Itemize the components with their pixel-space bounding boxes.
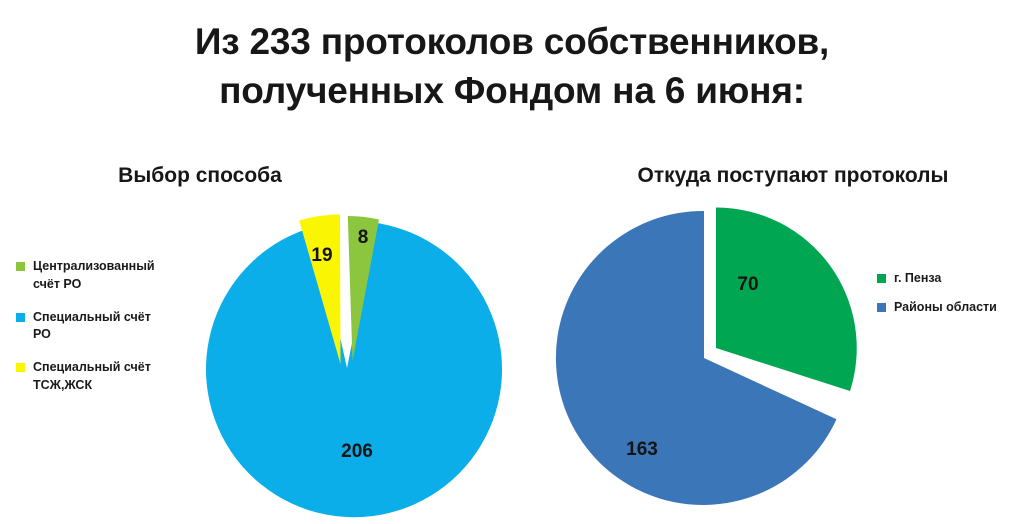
pie-chart-left: 206 19 8 [190, 208, 510, 518]
pie-left-value-yellow: 19 [311, 245, 332, 266]
legend-label-centralized-ro: Централизованный счёт РО [33, 258, 155, 294]
chart-left-legend: Централизованный счёт РО Специальный счё… [16, 258, 184, 410]
chart-left-title: Выбор способа [0, 164, 456, 188]
legend-item-regions[interactable]: Районы области [877, 299, 1024, 317]
page-title-line-2: полученных Фондом на 6 июня: [0, 67, 1024, 116]
legend-swatch-green-icon [16, 262, 25, 271]
legend-item-penza-city[interactable]: г. Пенза [877, 270, 1024, 288]
legend-label-special-tszh: Специальный счёт ТСЖ,ЖСК [33, 359, 151, 395]
legend-item-special-tszh[interactable]: Специальный счёт ТСЖ,ЖСК [16, 359, 184, 395]
legend-swatch-cyan-icon [16, 313, 25, 322]
legend-swatch-emerald-icon [877, 274, 886, 283]
page-title: Из 233 протоколов собственников, получен… [0, 18, 1024, 116]
chart-right-title: Откуда поступают протоколы [537, 164, 1024, 188]
legend-label-regions: Районы области [894, 299, 997, 317]
legend-swatch-yellow-icon [16, 363, 25, 372]
pie-right-svg: 70 163 [580, 200, 880, 510]
legend-label-special-ro: Специальный счёт РО [33, 309, 151, 345]
pie-left-svg: 206 19 8 [190, 208, 510, 518]
pie-right-slice-green[interactable] [716, 207, 857, 391]
legend-swatch-steel-blue-icon [877, 303, 886, 312]
pie-chart-right: 70 163 [580, 200, 880, 510]
pie-left-value-green: 8 [358, 227, 369, 248]
legend-item-special-ro[interactable]: Специальный счёт РО [16, 309, 184, 345]
pie-right-value-green: 70 [737, 274, 758, 295]
page-title-line-1: Из 233 протоколов собственников, [0, 18, 1024, 67]
chart-right-legend: г. Пенза Районы области [877, 270, 1024, 328]
pie-right-value-blue: 163 [626, 439, 658, 460]
pie-left-value-cyan: 206 [341, 441, 373, 462]
legend-item-centralized-ro[interactable]: Централизованный счёт РО [16, 258, 184, 294]
legend-label-penza-city: г. Пенза [894, 270, 941, 288]
